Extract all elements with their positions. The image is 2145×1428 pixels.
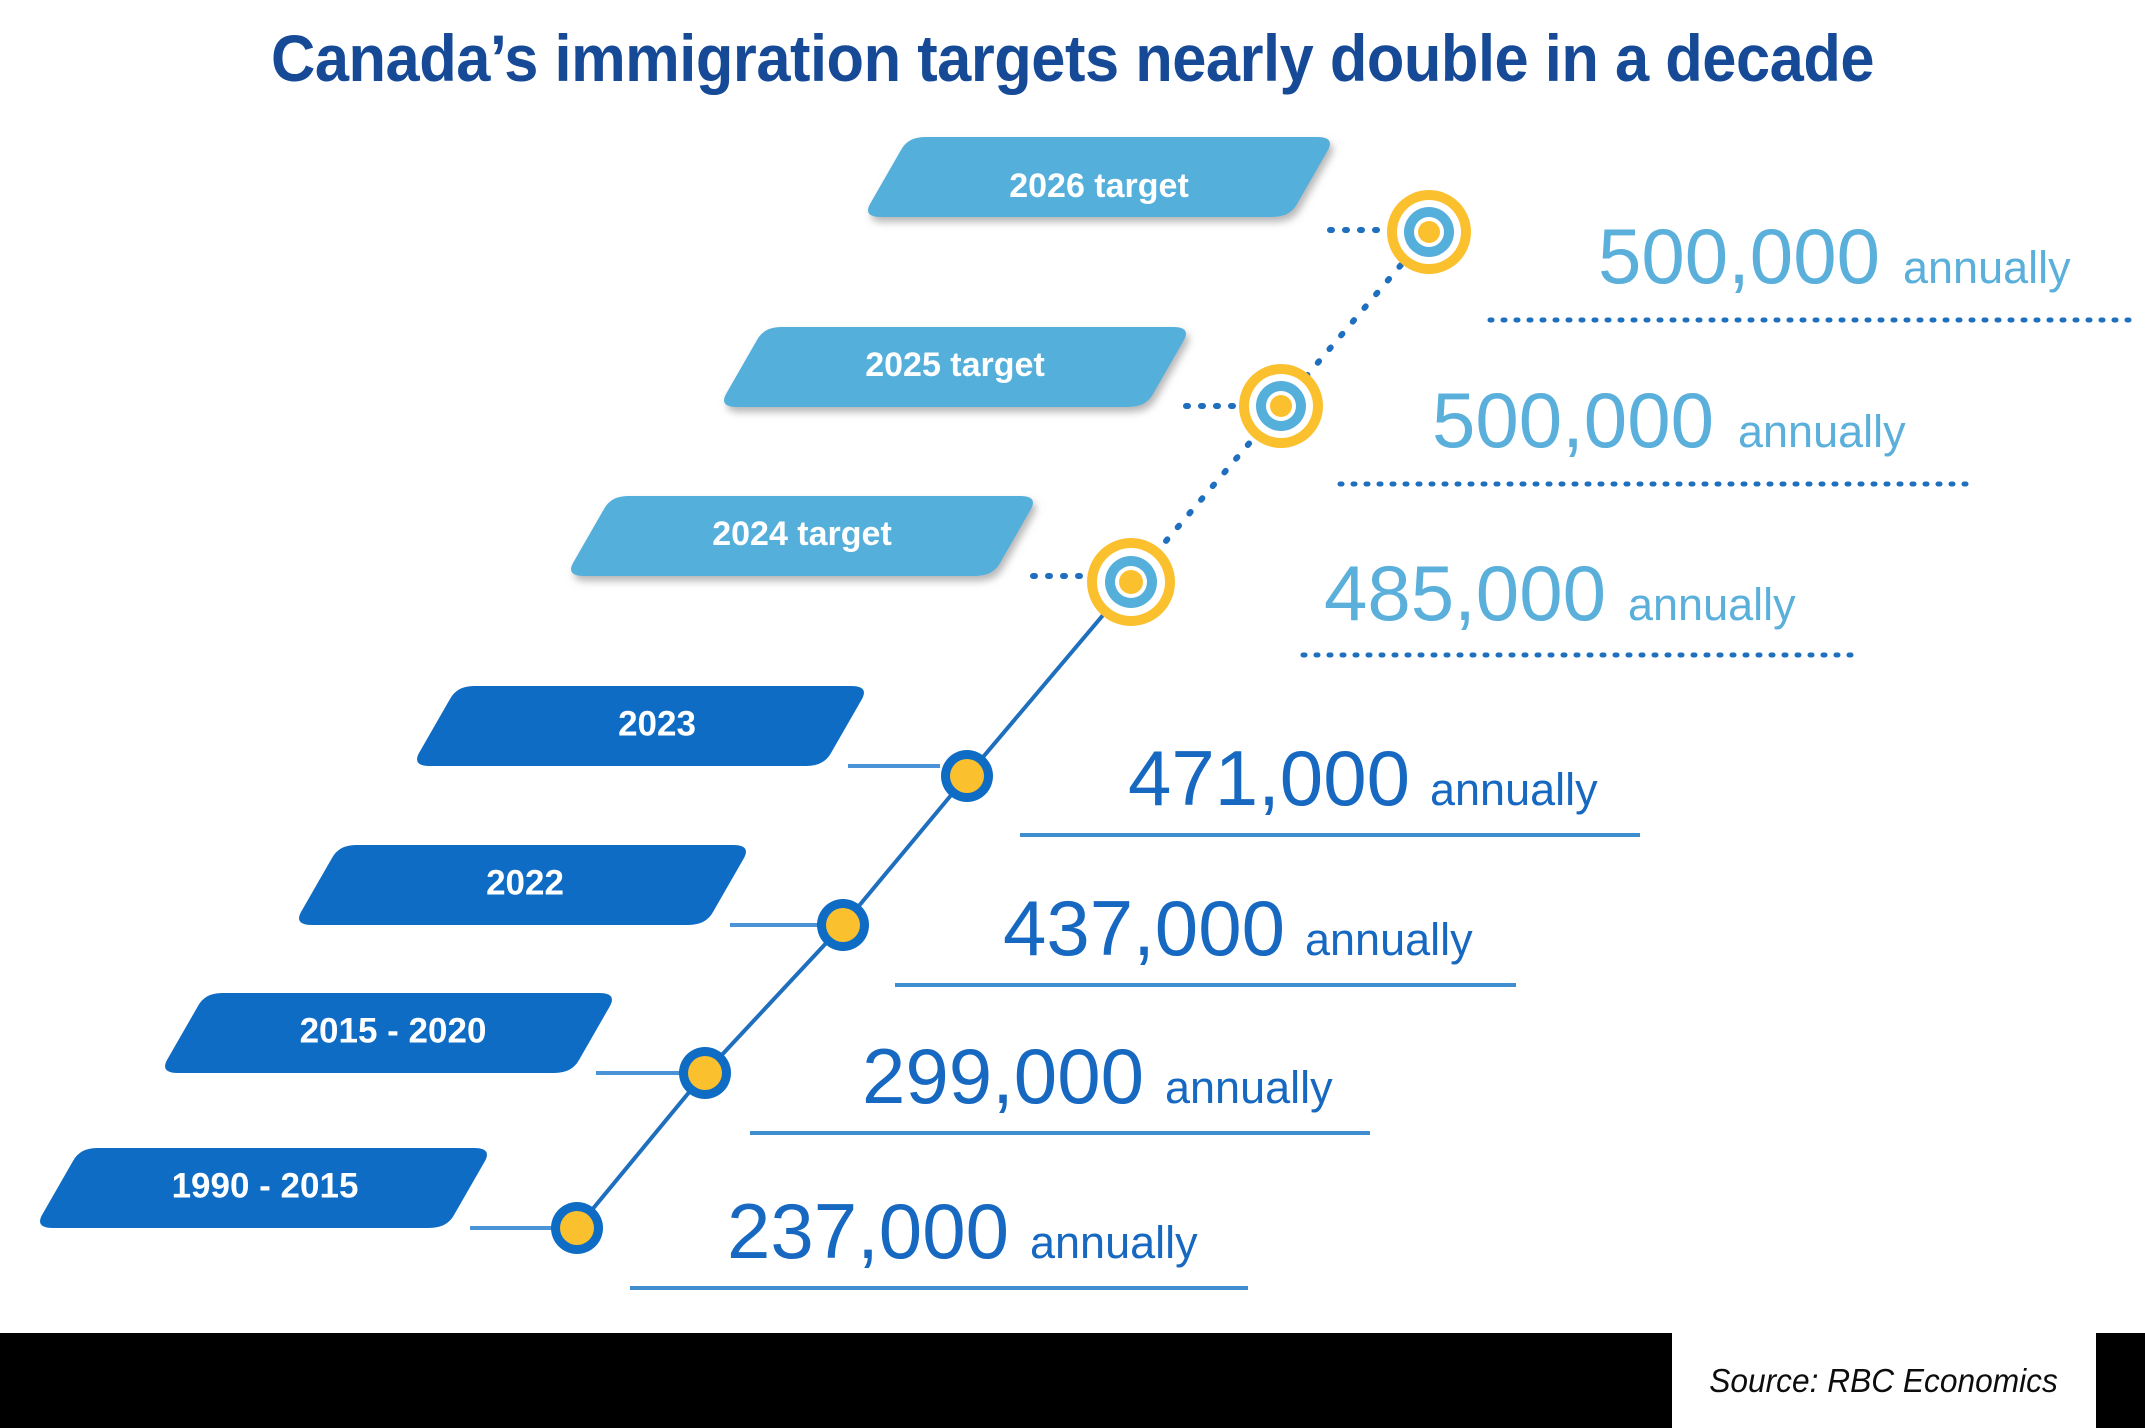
row-1990-2015[interactable]: 1990 - 2015 237,000 annually	[40, 1148, 1248, 1288]
row-2024[interactable]: 2024 target 485,000 annually	[571, 496, 1860, 655]
marker-bullseye-2024[interactable]	[1087, 538, 1175, 626]
unit-2024: annually	[1628, 579, 1796, 630]
marker-bullseye-2026[interactable]	[1387, 190, 1471, 274]
banner-2022-label: 2022	[486, 863, 564, 902]
row-2025[interactable]: 2025 target 500,000 annually	[724, 327, 1973, 484]
unit-2026: annually	[1903, 242, 2071, 293]
banner-2026-label: 2026 target	[1009, 167, 1189, 205]
unit-2025: annually	[1738, 406, 1906, 457]
row-2015-2020[interactable]: 2015 - 2020 299,000 annually	[165, 993, 1370, 1133]
value-2024: 485,000	[1324, 549, 1606, 637]
unit-2022: annually	[1305, 914, 1473, 965]
value-2015-2020: 299,000	[862, 1032, 1144, 1120]
banner-2015-2020-label: 2015 - 2020	[300, 1011, 487, 1050]
banner-2024-label: 2024 target	[712, 515, 892, 553]
banner-2023-label: 2023	[618, 704, 696, 743]
value-2023: 471,000	[1128, 734, 1410, 822]
marker-dot-2015-2020[interactable]	[679, 1047, 731, 1099]
value-1990-2015: 237,000	[727, 1187, 1009, 1275]
value-2022: 437,000	[1003, 884, 1285, 972]
infographic-canvas: Canada’s immigration targets nearly doub…	[0, 0, 2145, 1428]
marker-dot-2022[interactable]	[817, 899, 869, 951]
unit-2023: annually	[1430, 764, 1598, 815]
marker-dot-1990-2015[interactable]	[551, 1202, 603, 1254]
marker-bullseye-2025[interactable]	[1239, 364, 1323, 448]
banner-2025-label: 2025 target	[865, 346, 1045, 384]
value-2026: 500,000	[1598, 212, 1880, 300]
row-2023[interactable]: 2023 471,000 annually	[417, 686, 1640, 835]
source-box: Source: RBC Economics	[1672, 1333, 2096, 1428]
value-2025: 500,000	[1432, 376, 1714, 464]
unit-2015-2020: annually	[1165, 1062, 1333, 1113]
row-2022[interactable]: 2022 437,000 annually	[299, 845, 1516, 985]
timeline-chart: 2026 target 500,000 annually 2025 target	[0, 0, 2145, 1428]
unit-1990-2015: annually	[1030, 1217, 1198, 1268]
banner-1990-2015-label: 1990 - 2015	[172, 1166, 359, 1205]
source-label: Source: RBC Economics	[1710, 1362, 2059, 1400]
row-2026[interactable]: 2026 target 500,000 annually	[868, 137, 2138, 320]
marker-dot-2023[interactable]	[941, 750, 993, 802]
